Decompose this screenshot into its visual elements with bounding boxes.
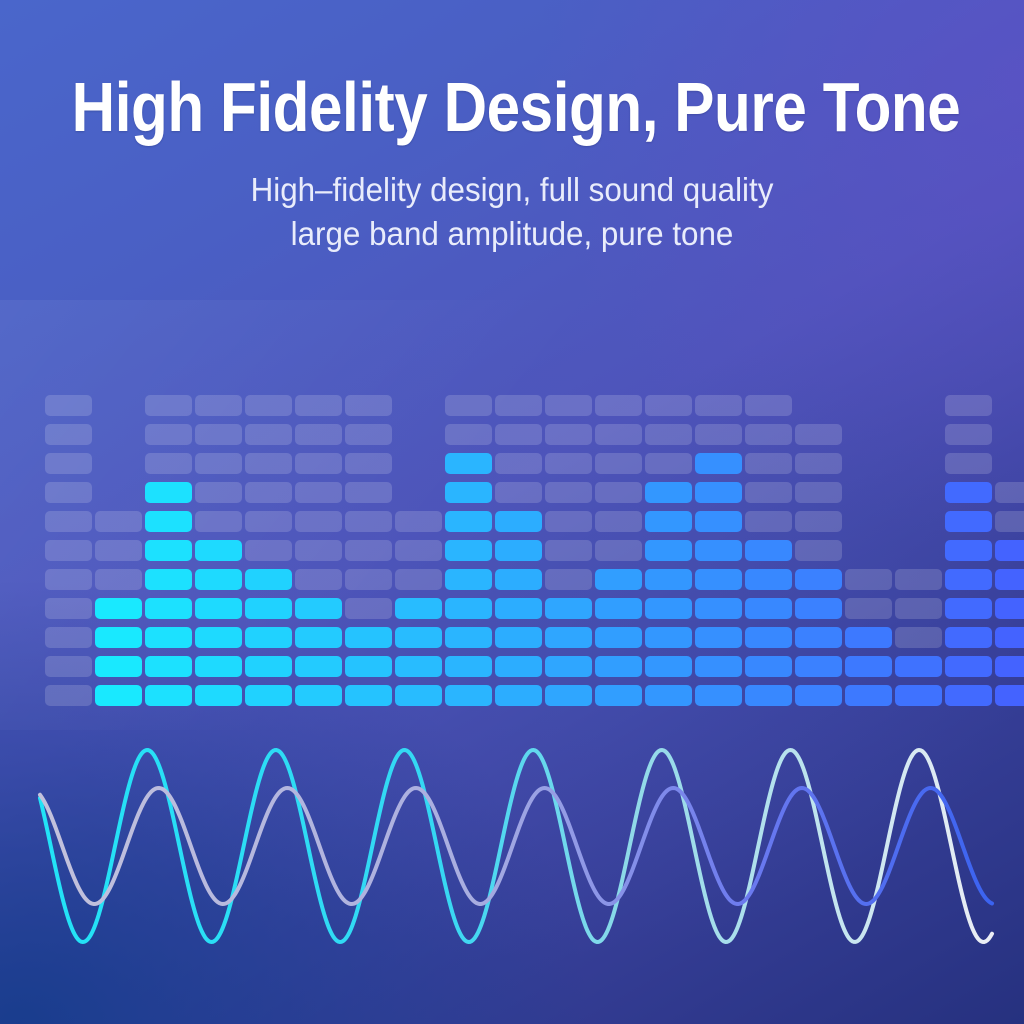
equalizer-segment-off [895,598,942,619]
equalizer-segment-lit [895,656,942,677]
equalizer-segment-lit [595,569,642,590]
equalizer-segment-off [145,453,192,474]
equalizer-segment-lit [995,569,1024,590]
equalizer-segment-lit [495,540,542,561]
equalizer-segment-off [445,395,492,416]
equalizer-segment-lit [795,569,842,590]
equalizer-segment-lit [195,627,242,648]
equalizer-segment-off [695,395,742,416]
equalizer-segment-off [995,511,1024,532]
equalizer-segment-lit [745,540,792,561]
equalizer-segment-off [45,540,92,561]
promo-banner: High Fidelity Design, Pure Tone High–fid… [0,0,1024,1024]
equalizer-segment-off [495,453,542,474]
equalizer-segment-off [645,395,692,416]
equalizer-segment-off [445,424,492,445]
equalizer-segment-lit [845,627,892,648]
equalizer-segment-lit [195,540,242,561]
equalizer-segment-lit [645,569,692,590]
page-subtitle: High–fidelity design, full sound quality… [26,168,999,255]
equalizer-segment-off [945,424,992,445]
equalizer-segment-off [145,424,192,445]
equalizer-segment-lit [745,627,792,648]
equalizer-segment-off [345,540,392,561]
equalizer-segment-lit [695,511,742,532]
equalizer-segment-off [595,395,642,416]
equalizer-column [195,387,242,706]
equalizer-segment-off [345,482,392,503]
header: High Fidelity Design, Pure Tone High–fid… [0,0,1024,255]
subtitle-line-1: High–fidelity design, full sound quality [26,168,999,212]
equalizer-segment-off [795,511,842,532]
equalizer-segment-lit [345,627,392,648]
equalizer-segment-lit [295,627,342,648]
equalizer-segment-lit [995,598,1024,619]
equalizer-segment-lit [945,598,992,619]
equalizer-segment-off [195,395,242,416]
equalizer-segment-off [745,453,792,474]
equalizer-segment-off [45,395,92,416]
equalizer-segment-off [245,453,292,474]
equalizer-column [45,387,92,706]
equalizer-segment-lit [945,569,992,590]
equalizer-segment-off [945,453,992,474]
equalizer-segment-off [45,482,92,503]
equalizer-segment-lit [645,540,692,561]
equalizer-column [245,387,292,706]
equalizer-segment-off [395,511,442,532]
equalizer-segment-off [545,511,592,532]
equalizer-segment-lit [145,482,192,503]
equalizer-segment-lit [695,598,742,619]
equalizer-segment-off [295,424,342,445]
equalizer-segment-lit [445,598,492,619]
equalizer-segment-lit [95,627,142,648]
equalizer-segment-off [395,569,442,590]
subtitle-line-2: large band amplitude, pure tone [26,212,999,256]
equalizer-segment-lit [945,540,992,561]
equalizer-segment-off [545,395,592,416]
equalizer-segment-lit [695,453,742,474]
equalizer-segment-lit [545,656,592,677]
equalizer-column [345,387,392,706]
equalizer-segment-lit [345,656,392,677]
equalizer-segment-off [345,395,392,416]
equalizer-segment-off [195,482,242,503]
equalizer-segment-lit [495,569,542,590]
equalizer-segment-off [545,482,592,503]
equalizer-segment-off [295,482,342,503]
equalizer-segment-lit [245,569,292,590]
equalizer-segment-off [345,453,392,474]
equalizer-segment-lit [95,656,142,677]
equalizer-segment-lit [695,656,742,677]
equalizer-segment-off [895,627,942,648]
equalizer-segment-off [245,395,292,416]
equalizer-segment-lit [145,511,192,532]
equalizer-segment-lit [845,656,892,677]
equalizer-segment-lit [445,627,492,648]
equalizer-column [545,387,592,706]
equalizer-segment-off [95,511,142,532]
equalizer-segment-off [595,453,642,474]
equalizer-segment-off [295,395,342,416]
equalizer-segment-lit [295,656,342,677]
equalizer-segment-lit [945,482,992,503]
equalizer-segment-off [95,569,142,590]
equalizer-segment-off [695,424,742,445]
equalizer-segment-off [595,511,642,532]
equalizer-segment-off [45,453,92,474]
equalizer-segment-off [245,511,292,532]
equalizer-segment-lit [145,540,192,561]
equalizer-segment-lit [445,511,492,532]
equalizer-segment-lit [545,598,592,619]
equalizer-segment-lit [695,627,742,648]
equalizer-segment-off [795,482,842,503]
equalizer-column [295,387,342,706]
equalizer-segment-lit [695,540,742,561]
equalizer-column [595,387,642,706]
equalizer-chart [45,376,995,706]
equalizer-segment-off [345,511,392,532]
equalizer-segment-off [945,395,992,416]
equalizer-segment-off [45,627,92,648]
equalizer-segment-lit [645,627,692,648]
equalizer-segment-off [45,569,92,590]
equalizer-segment-off [645,453,692,474]
equalizer-column [95,387,142,706]
equalizer-segment-off [45,511,92,532]
equalizer-column [795,387,842,706]
equalizer-column [645,387,692,706]
equalizer-segment-off [995,482,1024,503]
equalizer-segment-off [495,424,542,445]
equalizer-segment-lit [145,569,192,590]
equalizer-segment-off [645,424,692,445]
equalizer-segment-off [745,395,792,416]
equalizer-segment-lit [295,598,342,619]
equalizer-column [745,387,792,706]
equalizer-segment-lit [995,656,1024,677]
equalizer-segment-off [345,569,392,590]
equalizer-segment-off [345,598,392,619]
equalizer-segment-lit [495,598,542,619]
equalizer-segment-lit [945,627,992,648]
equalizer-segment-lit [645,482,692,503]
equalizer-segment-lit [145,627,192,648]
equalizer-segment-lit [495,511,542,532]
equalizer-segment-off [45,656,92,677]
equalizer-segment-off [395,540,442,561]
equalizer-column [945,387,992,706]
equalizer-segment-off [45,424,92,445]
equalizer-segment-lit [245,627,292,648]
equalizer-segment-lit [145,656,192,677]
equalizer-segment-lit [995,540,1024,561]
equalizer-segment-off [95,540,142,561]
waveform-chart [0,700,1024,990]
equalizer-segment-off [295,569,342,590]
equalizer-segment-off [745,511,792,532]
equalizer-segment-lit [595,627,642,648]
equalizer-segment-lit [795,627,842,648]
equalizer-segment-lit [145,598,192,619]
equalizer-segment-lit [645,598,692,619]
equalizer-segment-lit [995,627,1024,648]
equalizer-segment-lit [245,656,292,677]
equalizer-segment-lit [795,656,842,677]
equalizer-segment-lit [395,656,442,677]
equalizer-segment-lit [645,511,692,532]
equalizer-segment-off [595,482,642,503]
equalizer-segment-off [195,511,242,532]
equalizer-segment-lit [95,598,142,619]
equalizer-segment-lit [195,569,242,590]
equalizer-segment-lit [495,627,542,648]
equalizer-segment-off [295,540,342,561]
equalizer-segment-lit [745,656,792,677]
equalizer-segment-lit [445,482,492,503]
equalizer-segment-lit [645,656,692,677]
equalizer-segment-off [195,424,242,445]
equalizer-segment-lit [545,627,592,648]
equalizer-segment-lit [495,656,542,677]
equalizer-segment-lit [195,656,242,677]
equalizer-segment-off [795,540,842,561]
equalizer-segment-off [895,569,942,590]
equalizer-segment-lit [695,569,742,590]
equalizer-segment-lit [595,598,642,619]
equalizer-segment-lit [945,656,992,677]
equalizer-segment-off [195,453,242,474]
equalizer-segment-off [245,540,292,561]
equalizer-segment-lit [795,598,842,619]
page-title: High Fidelity Design, Pure Tone [72,72,953,142]
equalizer-segment-lit [595,656,642,677]
equalizer-column [995,387,1024,706]
equalizer-segment-off [795,453,842,474]
equalizer-segment-off [545,453,592,474]
equalizer-column [895,387,942,706]
equalizer-segment-off [545,424,592,445]
equalizer-segment-lit [245,598,292,619]
equalizer-segment-off [495,395,542,416]
equalizer-segment-off [745,424,792,445]
equalizer-segment-off [295,453,342,474]
equalizer-segment-off [745,482,792,503]
equalizer-segment-lit [195,598,242,619]
equalizer-segment-off [245,482,292,503]
equalizer-segment-lit [445,569,492,590]
equalizer-segment-off [245,424,292,445]
equalizer-column [145,387,192,706]
equalizer-segment-lit [745,598,792,619]
equalizer-segment-lit [445,453,492,474]
equalizer-column [845,387,892,706]
equalizer-segment-off [345,424,392,445]
equalizer-segment-lit [745,569,792,590]
equalizer-column [445,387,492,706]
equalizer-column [395,387,442,706]
equalizer-segment-off [545,540,592,561]
equalizer-segment-off [495,482,542,503]
equalizer-segment-off [845,598,892,619]
equalizer-column [495,387,542,706]
equalizer-segment-off [295,511,342,532]
equalizer-segment-lit [945,511,992,532]
equalizer-segment-lit [445,656,492,677]
equalizer-segment-lit [695,482,742,503]
equalizer-segment-off [595,424,642,445]
equalizer-segment-off [45,598,92,619]
equalizer-segment-off [795,424,842,445]
equalizer-segment-lit [445,540,492,561]
equalizer-segment-off [145,395,192,416]
equalizer-segment-lit [395,598,442,619]
equalizer-column [695,387,742,706]
equalizer-segment-off [845,569,892,590]
equalizer-segment-off [595,540,642,561]
equalizer-segment-off [545,569,592,590]
equalizer-segment-lit [395,627,442,648]
